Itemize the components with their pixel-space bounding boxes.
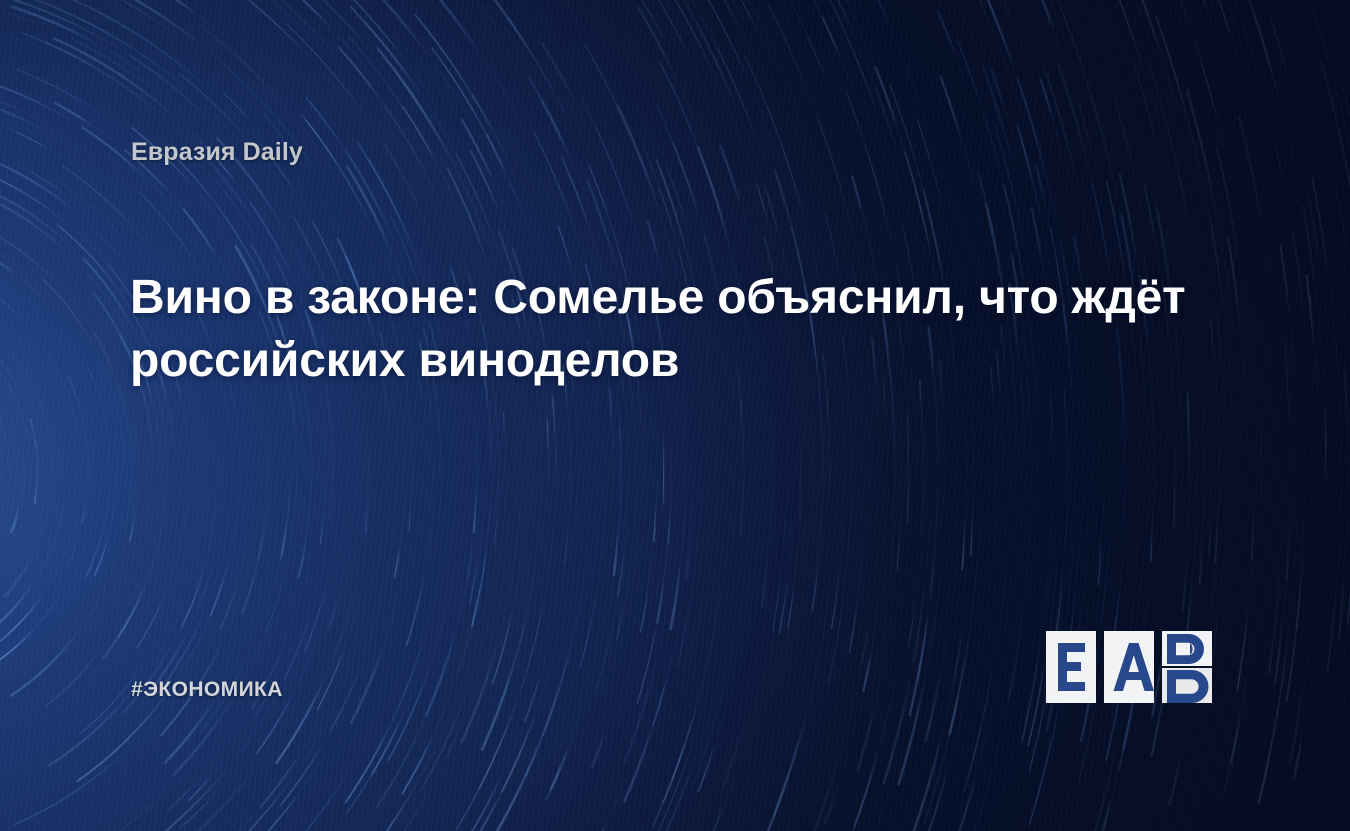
category-tag[interactable]: #ЭКОНОМИКА xyxy=(131,678,283,702)
headline: Вино в законе: Сомелье объяснил, что ждё… xyxy=(130,266,1200,393)
card-content: Евразия Daily Вино в законе: Сомелье объ… xyxy=(0,0,1350,831)
eadaily-logo[interactable] xyxy=(1046,631,1222,703)
news-card: Евразия Daily Вино в законе: Сомелье объ… xyxy=(0,0,1350,831)
logo-letter-e xyxy=(1058,643,1085,691)
site-label: Евразия Daily xyxy=(131,138,303,167)
